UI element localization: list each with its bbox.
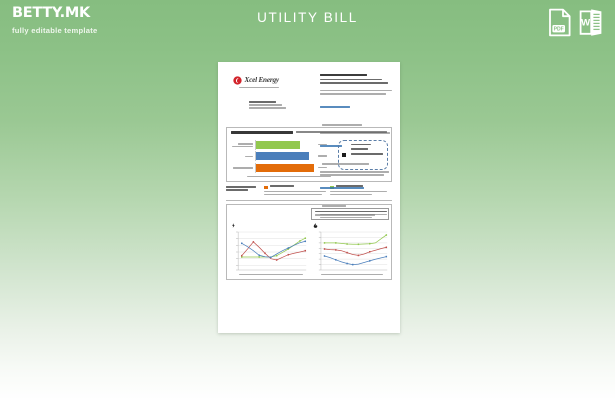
bar-fill-efficient-neighbors <box>256 141 300 149</box>
legend-swatch-all-neighbors <box>264 186 268 190</box>
document-header: Xcel Energy <box>226 69 392 125</box>
neighbor-bar-chart <box>231 137 331 178</box>
natural-gas-x-axis-labels <box>313 274 389 276</box>
trend-section-header <box>231 208 387 221</box>
svg-text:W: W <box>581 18 590 29</box>
report-meta-2 <box>320 82 388 84</box>
report-meta-1 <box>320 79 382 81</box>
comparison-footnote <box>247 176 331 178</box>
last-12-month-comparison-section <box>226 204 392 281</box>
bar-label-you <box>231 155 255 158</box>
bar-label-efficient-neighbors <box>231 142 255 147</box>
lightning-bolt-icon <box>231 223 236 228</box>
bar-row <box>231 151 331 161</box>
section-comparison-title-bold <box>231 131 293 134</box>
legend-item-header <box>264 185 326 189</box>
bar-value-you <box>316 155 331 157</box>
xcel-swirl-icon <box>233 76 242 85</box>
file-format-icons: PDF W <box>548 8 603 37</box>
last-month-comparison-section <box>226 127 392 182</box>
score-meter-box <box>338 140 388 170</box>
callout-line-1 <box>315 211 387 213</box>
natural-gas-line-chart <box>313 230 389 272</box>
word-icon[interactable]: W <box>579 8 603 37</box>
callout-line-2 <box>315 214 375 216</box>
bar-track <box>255 151 316 161</box>
document-page[interactable]: Xcel Energy <box>218 62 400 333</box>
electricity-chart-caption <box>231 223 308 228</box>
legend-title-all-neighbors <box>270 185 294 187</box>
flame-icon <box>313 223 318 228</box>
score-line-great <box>351 144 371 146</box>
comparison-body <box>231 137 387 178</box>
page-banner: BETTY.MK fully editable template UTILITY… <box>0 0 615 52</box>
section-comparison-title-rest <box>296 131 387 133</box>
score-meter-marker-icon <box>342 153 346 157</box>
legend-item-all-neighbors <box>264 185 326 196</box>
account-address-block <box>249 101 312 109</box>
natural-gas-chart-block <box>313 223 389 275</box>
legend-title-efficient-neighbors <box>336 185 363 187</box>
legend-heading <box>226 185 260 196</box>
bar-track <box>255 163 316 173</box>
xcel-energy-wordmark: Xcel Energy <box>245 77 279 84</box>
utility-identity-block: Xcel Energy <box>226 69 312 125</box>
document-page-inner: Xcel Energy <box>218 62 400 333</box>
section-trend-title <box>231 208 307 209</box>
document-page-footer <box>218 312 400 333</box>
bar-fill-you <box>256 152 309 160</box>
bar-row <box>231 163 331 173</box>
natural-gas-chart-caption <box>313 223 389 228</box>
electricity-chart-block <box>231 223 308 275</box>
section-comparison-title <box>231 131 387 134</box>
bar-value-all-neighbors <box>316 167 331 169</box>
score-line-good <box>351 148 368 150</box>
pdf-icon[interactable]: PDF <box>548 8 572 37</box>
utility-tagline <box>239 87 312 88</box>
bar-row <box>231 140 331 150</box>
svg-text:PDF: PDF <box>554 27 564 33</box>
bar-track <box>255 140 316 150</box>
report-link-3[interactable] <box>320 187 364 189</box>
trend-charts <box>231 223 387 275</box>
bar-label-all-neighbors <box>231 166 255 169</box>
electricity-x-axis-labels <box>231 274 308 276</box>
report-summary-block <box>320 69 392 125</box>
screenshot-root: BETTY.MK fully editable template UTILITY… <box>0 0 615 400</box>
bar-fill-all-neighbors <box>256 164 314 172</box>
score-line-needs-savings <box>351 153 383 155</box>
report-title <box>320 74 367 76</box>
page-title: UTILITY BILL <box>0 10 615 25</box>
report-link-1[interactable] <box>320 106 350 108</box>
bar-value-efficient-neighbors <box>316 144 331 146</box>
electricity-line-chart <box>231 230 308 272</box>
xcel-energy-logo: Xcel Energy <box>233 76 312 85</box>
score-meter-panel <box>336 137 390 178</box>
brand-tagline: fully editable template <box>12 27 98 35</box>
